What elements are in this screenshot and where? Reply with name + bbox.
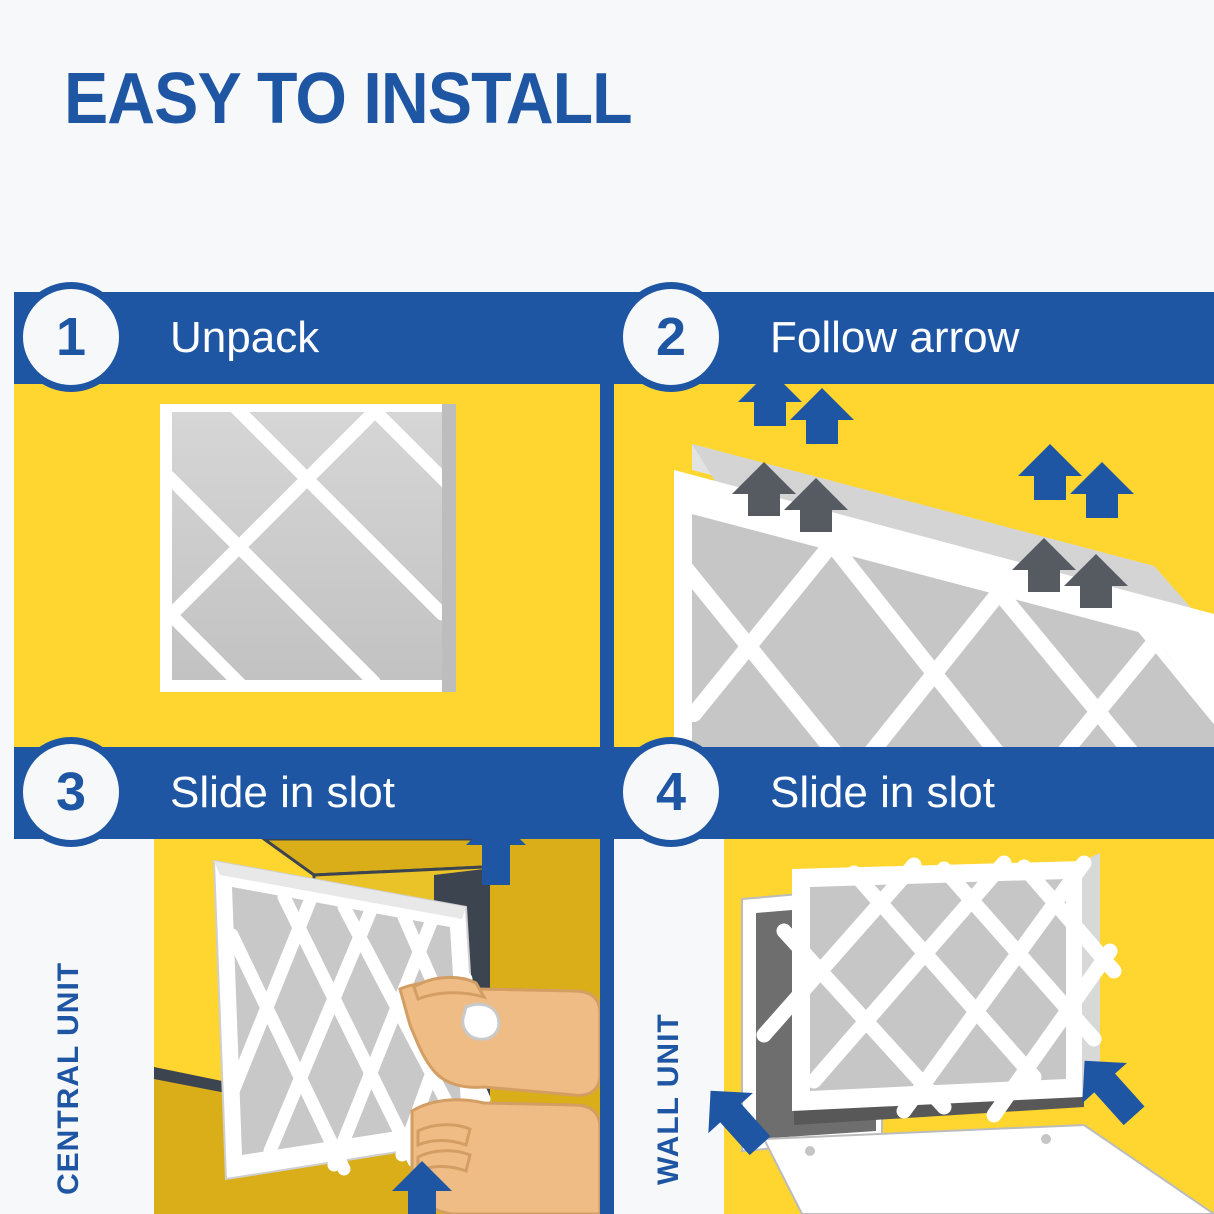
column-divider-upper: [600, 292, 614, 1214]
step-3-illustration: [14, 839, 600, 1214]
step-1-label: Unpack: [170, 313, 319, 363]
step-4-illustration: [614, 839, 1214, 1214]
step-badge-3: 3: [16, 737, 126, 847]
side-caption-wall-unit: WALL UNIT: [652, 1013, 686, 1185]
airflow-arrow-icon: [614, 384, 1214, 747]
hands-icon: [14, 839, 600, 1214]
step-4-label: Slide in slot: [770, 768, 995, 818]
step-1-illustration: [14, 384, 600, 747]
step-2-label: Follow arrow: [770, 313, 1019, 363]
side-caption-central-unit: CENTRAL UNIT: [52, 962, 86, 1195]
filter-panel-icon: [14, 384, 600, 747]
hand-lower: [412, 1100, 600, 1214]
step-badge-4: 4: [616, 737, 726, 847]
airflow-arrow-blue-right: [1018, 444, 1134, 518]
page-title: EASY TO INSTALL: [64, 58, 632, 140]
step-2-illustration: [614, 384, 1214, 747]
airflow-arrow-blue-left: [738, 384, 854, 444]
wall-grille-icon: [614, 839, 1214, 1214]
filter-sliding-in: [764, 853, 1114, 1115]
step-3-label: Slide in slot: [170, 768, 395, 818]
step-badge-2: 2: [616, 282, 726, 392]
step-badge-1: 1: [16, 282, 126, 392]
steps-grid: Unpack: [0, 292, 1214, 1214]
